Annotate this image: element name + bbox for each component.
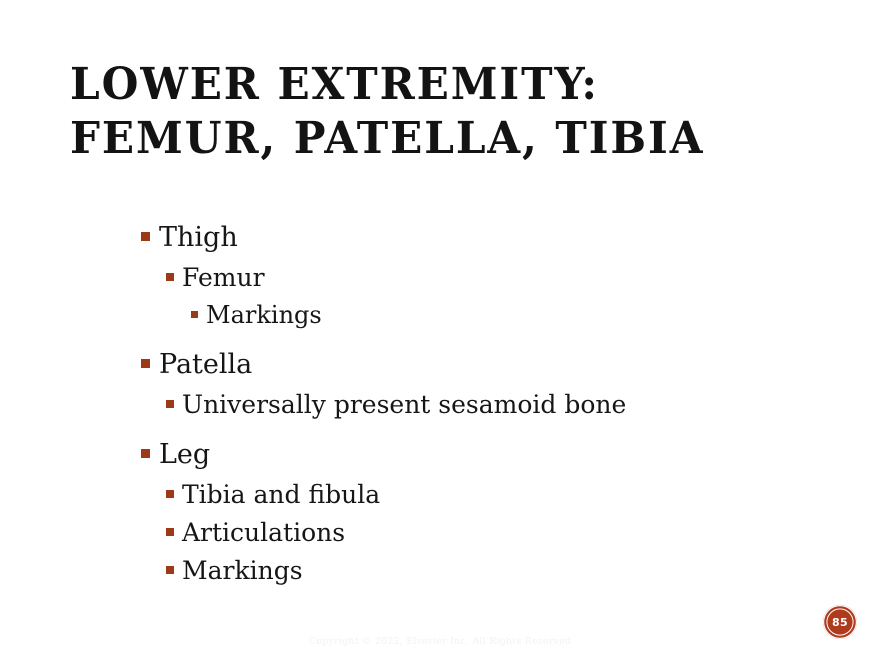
bullet-square-icon	[166, 273, 174, 281]
bullet-square-icon	[141, 232, 150, 241]
list-item-label: Leg	[159, 435, 210, 474]
list-item-label: Tibia and fibula	[182, 476, 380, 513]
bullet-square-icon	[166, 566, 174, 574]
bullet-square-icon	[166, 528, 174, 536]
slide-body-list: Thigh Femur Markings Patella Universally…	[0, 218, 880, 590]
slide-title: Lower Extremity: Femur, Patella, Tibia	[70, 58, 830, 166]
list-item-label: Articulations	[182, 514, 345, 551]
list-item-label: Thigh	[159, 218, 238, 257]
list-item: Leg	[0, 435, 880, 474]
list-item: Patella	[0, 345, 880, 384]
page-number-badge: 85	[823, 605, 857, 639]
bullet-square-icon	[141, 449, 150, 458]
page-number-label: 85	[832, 617, 848, 628]
list-item: Tibia and fibula	[0, 476, 880, 513]
list-item-label: Markings	[182, 552, 303, 589]
slide-title-line-1: Lower Extremity:	[70, 58, 800, 112]
list-group-spacer	[0, 334, 880, 345]
list-item: Markings	[0, 297, 880, 333]
slide-title-line-2: Femur, Patella, Tibia	[70, 112, 800, 166]
bullet-square-icon	[166, 490, 174, 498]
bullet-square-icon	[166, 400, 174, 408]
list-item: Articulations	[0, 514, 880, 551]
list-item-label: Markings	[206, 297, 322, 333]
copyright-notice: Copyright © 2022, Elsevier Inc. All Righ…	[0, 636, 880, 647]
list-item-label: Universally present sesamoid bone	[182, 386, 626, 423]
bullet-square-icon	[141, 359, 150, 368]
list-item-label: Patella	[159, 345, 252, 384]
list-group-spacer	[0, 424, 880, 435]
presentation-slide: Lower Extremity: Femur, Patella, Tibia T…	[0, 0, 880, 660]
list-item: Femur	[0, 259, 880, 296]
list-item: Markings	[0, 552, 880, 589]
bullet-square-icon	[191, 311, 198, 318]
list-item: Thigh	[0, 218, 880, 257]
list-item: Universally present sesamoid bone	[0, 386, 880, 423]
list-item-label: Femur	[182, 259, 265, 296]
